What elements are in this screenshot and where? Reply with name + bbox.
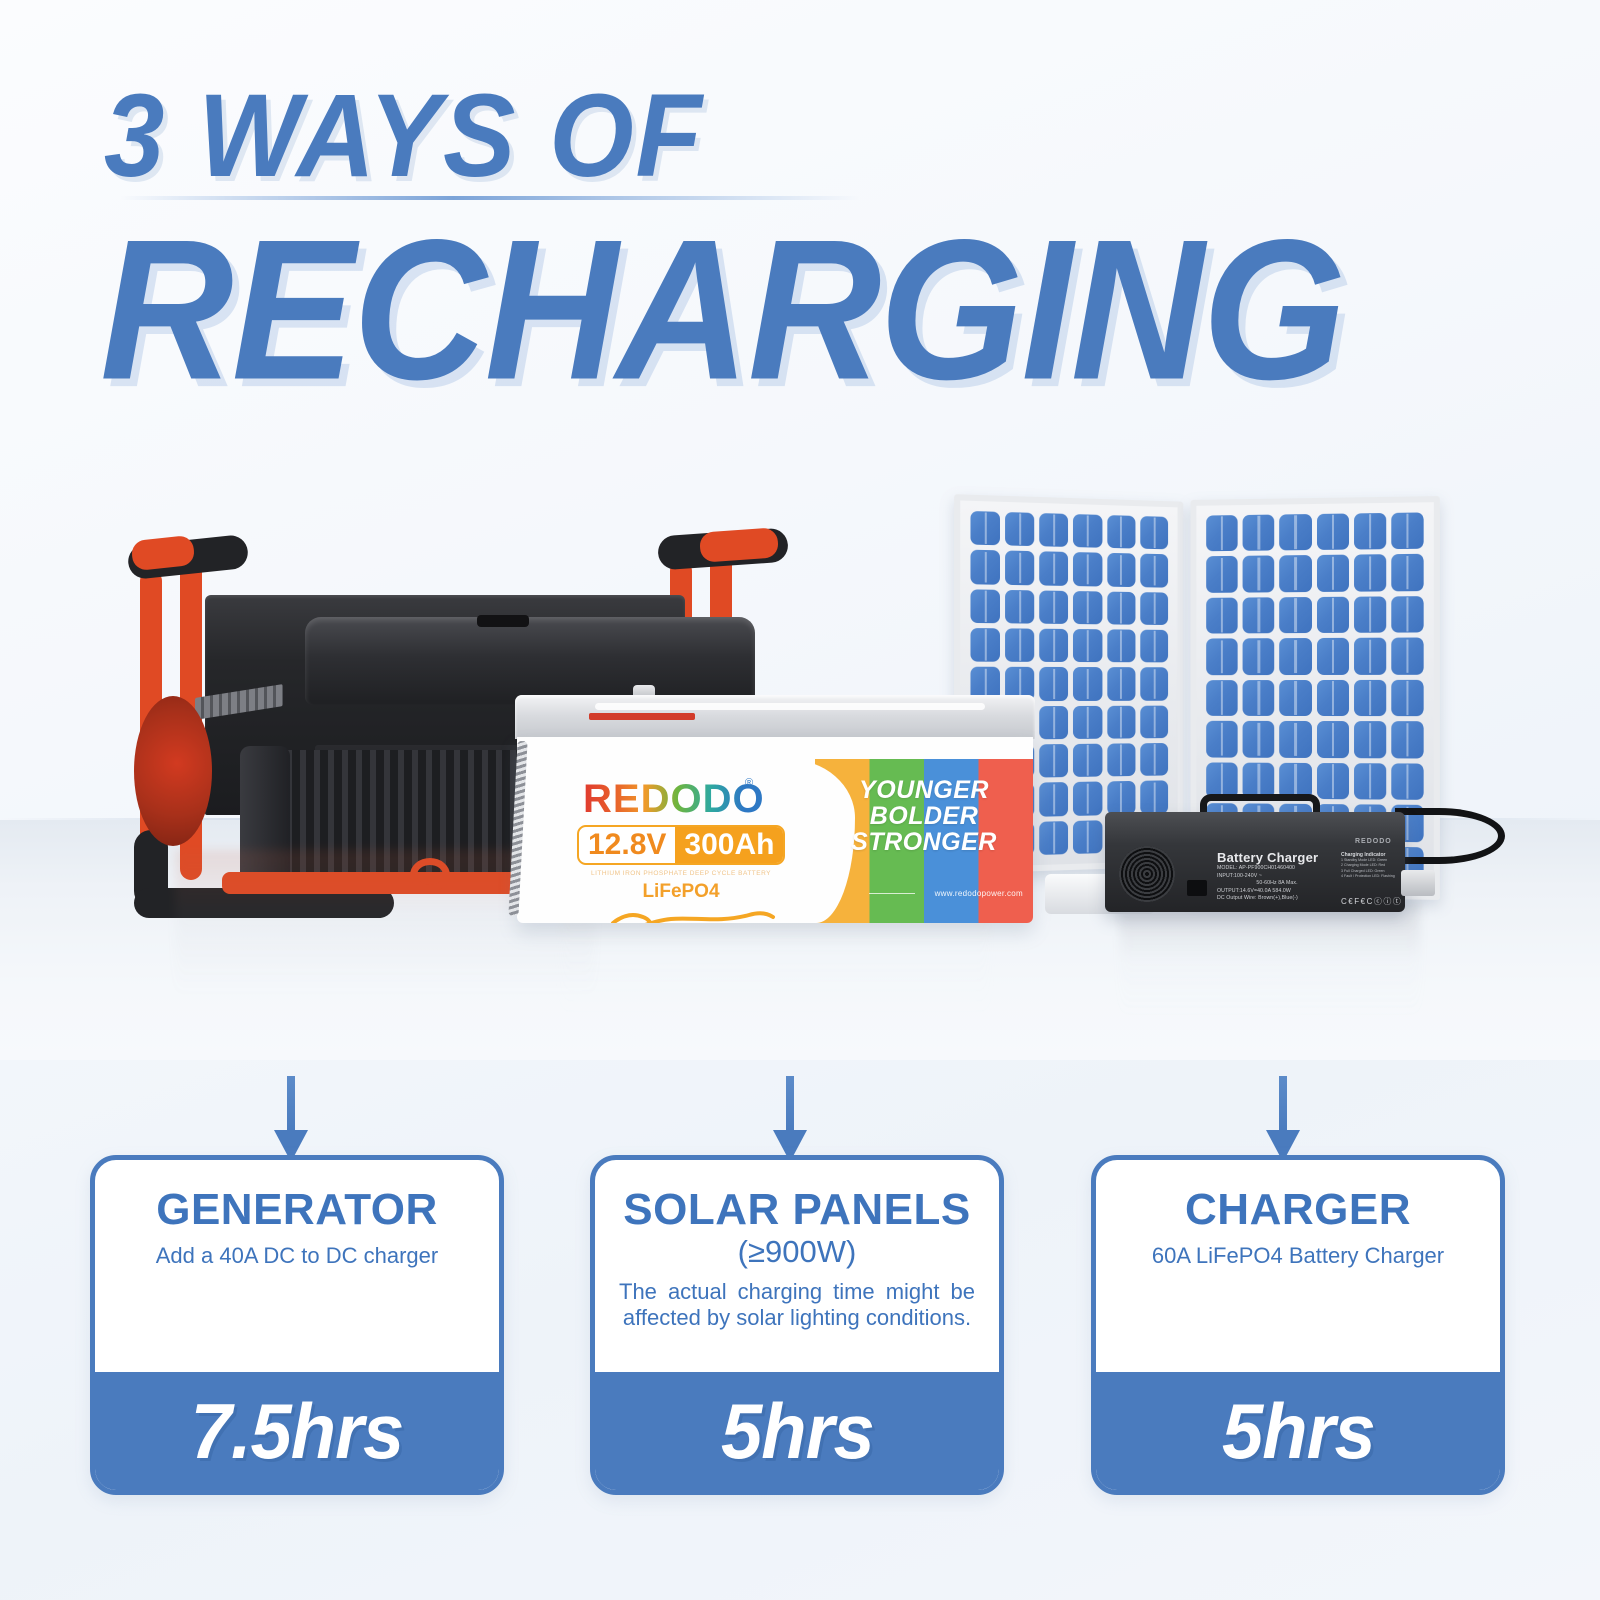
generator-recoil-starter [134, 696, 212, 846]
battery-fine-print: LITHIUM IRON PHOSPHATE DEEP CYCLE BATTER… [581, 870, 781, 877]
recharge-card-solar-panels[interactable]: SOLAR PANELS (≥900W) The actual charging… [590, 1155, 1004, 1495]
generator-side-vent [195, 684, 283, 720]
card-body: GENERATOR Add a 40A DC to DC charger [95, 1160, 499, 1372]
charger-dc-port [1187, 880, 1207, 896]
page-title-block: 3 WAYS OF RECHARGING [0, 0, 1600, 400]
card-hours-value: 5hrs [1222, 1392, 1375, 1470]
page-title-line-1: 3 WAYS OF [104, 68, 704, 204]
battery-chemistry-label: LiFePO4 [581, 881, 781, 903]
battery-product-image: REDODO ® 12.8V 300Ah LITHIUM IRON PHOSPH… [505, 695, 1045, 935]
generator-tank-cap [477, 615, 529, 627]
arrow-shaft [1279, 1076, 1287, 1134]
charger-wire: DC Output Wire: Brown(+),Blue(-) [1217, 895, 1337, 903]
battery-top-highlight [595, 703, 985, 710]
page-title-line-2: RECHARGING [100, 196, 1344, 425]
arrow-down-charger-icon [1261, 1076, 1305, 1162]
battery-slogan: YOUNGER BOLDER STRONGER [821, 777, 1027, 855]
arrow-down-generator-icon [269, 1076, 313, 1162]
card-hours-value: 5hrs [721, 1392, 874, 1470]
card-title: GENERATOR [113, 1188, 481, 1233]
charger-output: OUTPUT:14.6V=40.0A 584.0W [1217, 888, 1337, 896]
card-hours-value: 7.5hrs [191, 1392, 404, 1470]
generator-fuel-tank [305, 617, 755, 705]
product-stage: REDODO ® 12.8V 300Ah LITHIUM IRON PHOSPH… [0, 420, 1600, 1060]
battery-website-url: www.redodopower.com [873, 889, 1023, 898]
card-footer: 5hrs [595, 1372, 999, 1490]
battery-positive-marker [589, 713, 695, 720]
charger-spec-label: Battery Charger MODEL: AP-PF900CH0146040… [1217, 850, 1337, 903]
battery-capacity-value: 300Ah [675, 827, 783, 863]
charger-brand-mark: REDODO [1355, 838, 1392, 845]
card-footer: 5hrs [1096, 1372, 1500, 1490]
charger-input-2: 50-60Hz 8A Max. [1217, 880, 1337, 888]
recharge-card-charger[interactable]: CHARGER 60A LiFePO4 Battery Charger 5hrs [1091, 1155, 1505, 1495]
recharge-card-generator[interactable]: GENERATOR Add a 40A DC to DC charger 7.5… [90, 1155, 504, 1495]
arrow-shaft [786, 1076, 794, 1134]
battery-voltage-value: 12.8V [579, 827, 675, 863]
card-description: The actual charging time might be affect… [613, 1279, 981, 1332]
card-body: CHARGER 60A LiFePO4 Battery Charger [1096, 1160, 1500, 1372]
battery-spec-badge: 12.8V 300Ah [577, 825, 785, 865]
charger-power-cable [1395, 808, 1505, 864]
card-footer: 7.5hrs [95, 1372, 499, 1490]
card-body: SOLAR PANELS (≥900W) The actual charging… [595, 1160, 999, 1372]
card-description: Add a 40A DC to DC charger [113, 1243, 481, 1269]
card-subtitle: (≥900W) [613, 1235, 981, 1269]
slogan-line-3: STRONGER [821, 829, 1027, 855]
registered-trademark-icon: ® [745, 777, 753, 789]
card-description: 60A LiFePO4 Battery Charger [1114, 1243, 1482, 1269]
charger-product-image: REDODO Battery Charger MODEL: AP-PF900CH… [1105, 800, 1505, 930]
charger-plug-connector [1401, 870, 1435, 896]
card-title: SOLAR PANELS [613, 1188, 981, 1233]
battery-front-label: REDODO ® 12.8V 300Ah LITHIUM IRON PHOSPH… [517, 737, 1033, 923]
arrow-down-solar-icon [768, 1076, 812, 1162]
charger-housing: REDODO Battery Charger MODEL: AP-PF900CH… [1105, 812, 1405, 912]
arrow-shaft [287, 1076, 295, 1134]
charger-indicator-block: Charging Indicator 1 Standby Mode LED: G… [1341, 852, 1399, 880]
charger-fan-vent-icon [1119, 846, 1175, 902]
charger-certification-icons: C€F€Cⓒⓘⓣ [1341, 896, 1402, 907]
charger-indicator-row: 4 Fault / Protection LED: Flashing [1341, 874, 1399, 879]
slogan-line-1: YOUNGER [821, 777, 1027, 803]
slogan-line-2: BOLDER [821, 803, 1027, 829]
card-title: CHARGER [1114, 1188, 1482, 1233]
charger-label-title: Battery Charger [1217, 850, 1337, 865]
cheetah-graphic-icon [599, 905, 779, 923]
redodo-brand-logo: REDODO [583, 779, 765, 819]
charger-input: INPUT:100-240V ~ [1217, 873, 1337, 881]
charger-model: MODEL: AP-PF900CH01460400 [1217, 865, 1337, 873]
